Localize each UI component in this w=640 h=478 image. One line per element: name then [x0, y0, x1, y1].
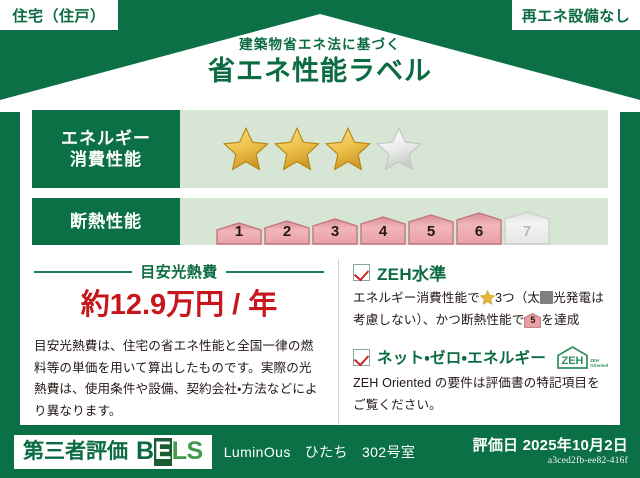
utility-cost-note: 目安光熱費は、住宅の省エネ性能と全国一律の燃料等の単価を用いて算出したものです。… — [34, 336, 324, 423]
property-info: LuminOusひたち302号室 — [224, 442, 416, 462]
title-subtitle: 建築物省エネ法に基づく — [0, 38, 640, 53]
insulation-level-scale: 1234567 — [180, 198, 608, 245]
svg-text:ZEH: ZEH — [562, 355, 584, 367]
star-filled-icon — [273, 126, 321, 172]
energy-performance-row: エネルギー 消費性能 — [32, 110, 608, 188]
insulation-level-badge-3: 3 — [312, 218, 358, 245]
zeh-standard-heading: ZEH水準 — [353, 260, 610, 285]
evaluation-id: a3ced2fb-ee82-416f — [473, 456, 628, 466]
redaction-box — [540, 291, 553, 304]
bels-letter-l: L — [172, 439, 187, 464]
energy-performance-label-line2: 消費性能 — [70, 149, 142, 170]
bels-third-party-text: 第三者評価 — [23, 441, 128, 462]
utility-cost-heading-text: 目安光熱費 — [140, 261, 218, 282]
tag-building-type-label: 住宅（住戸） — [12, 5, 105, 26]
zeh-house-logo-icon: ZEH — [556, 345, 589, 370]
heading-rule-right — [226, 271, 324, 273]
star-filled-icon — [222, 126, 270, 172]
zeh-netzero-block: ネット・ゼロ・エネルギー ZEH ZEH Oriented — [353, 345, 610, 417]
zeh-standard-body: エネルギー消費性能で3つ（太光発電は考慮しない）、かつ断熱性能で5を達成 — [353, 287, 610, 332]
checkbox-checked-icon — [353, 264, 370, 281]
house-badge-icon — [216, 222, 262, 245]
evaluation-date: 評価日 2025年10月2日 — [473, 437, 628, 454]
bels-wordmark: BELS — [136, 438, 203, 466]
zeh-logo-subtext: ZEH Oriented — [590, 358, 608, 370]
insulation-performance-label: 断熱性能 — [32, 198, 180, 245]
insulation-performance-label-text: 断熱性能 — [70, 211, 142, 232]
zeh-netzero-body: ZEH Oriented の要件は評価書の特記項目をご覧ください。 — [353, 372, 610, 417]
utility-cost-heading: 目安光熱費 — [34, 261, 324, 282]
house-badge-icon — [360, 216, 406, 245]
bels-letter-b: B — [136, 439, 154, 464]
label-footer: 第三者評価 BELS LuminOusひたち302号室 評価日 2025年10月… — [0, 425, 640, 478]
house-badge-icon — [312, 218, 358, 245]
property-room: 302号室 — [362, 444, 415, 460]
zeh-logo-subtext-line1: ZEH — [590, 358, 599, 363]
house-badge-icon — [456, 212, 502, 245]
insulation-level-badge-6: 6 — [456, 212, 502, 245]
insulation-performance-row: 断熱性能 1234567 — [32, 198, 608, 245]
zeh-panel: ZEH水準 エネルギー消費性能で3つ（太光発電は考慮しない）、かつ断熱性能で5を… — [339, 257, 620, 432]
evaluation-info: 評価日 2025年10月2日 a3ced2fb-ee82-416f — [473, 437, 628, 465]
insulation-level-badge-5: 5 — [408, 214, 454, 245]
star-filled-icon — [324, 126, 372, 172]
zeh-logo-subtext-line2: Oriented — [590, 363, 608, 368]
utility-cost-amount: 約12.9万円 / 年 — [34, 290, 324, 322]
star-empty-icon — [375, 126, 423, 172]
label-card: エネルギー 消費性能 断熱性能 1234567 目安光熱費 約12.9万円 / … — [20, 100, 620, 425]
zeh-standard-title: ZEH水準 — [377, 260, 447, 285]
house-badge-icon — [504, 211, 550, 245]
tag-renewable-energy-label: 再エネ設備なし — [522, 5, 631, 26]
label-title: 建築物省エネ法に基づく 省エネ性能ラベル — [0, 38, 640, 87]
utility-cost-panel: 目安光熱費 約12.9万円 / 年 目安光熱費は、住宅の省エネ性能と全国一律の燃… — [20, 257, 338, 432]
checkbox-checked-icon — [353, 349, 370, 366]
insulation-level-badge-4: 4 — [360, 216, 406, 245]
label-lower-section: 目安光熱費 約12.9万円 / 年 目安光熱費は、住宅の省エネ性能と全国一律の燃… — [20, 257, 620, 432]
property-name: LuminOus — [224, 444, 291, 460]
bels-logo: 第三者評価 BELS — [14, 435, 212, 469]
energy-star-rating — [180, 110, 608, 188]
title-main: 省エネ性能ラベル — [0, 57, 640, 87]
energy-performance-label-line1: エネルギー — [61, 128, 151, 149]
house-badge-icon — [408, 214, 454, 245]
bels-letter-e: E — [154, 438, 172, 466]
inline-insulation-level-badge: 5 — [524, 313, 541, 328]
property-area: ひたち — [305, 444, 348, 460]
tag-renewable-energy: 再エネ設備なし — [512, 0, 640, 30]
insulation-level-badge-7: 7 — [504, 211, 550, 245]
heading-rule-left — [34, 271, 132, 273]
zeh-oriented-logo: ZEH ZEH Oriented — [556, 345, 608, 370]
zeh-standard-block: ZEH水準 エネルギー消費性能で3つ（太光発電は考慮しない）、かつ断熱性能で5を… — [353, 260, 610, 332]
tag-building-type: 住宅（住戸） — [0, 0, 118, 30]
zeh-standard-body-stars: 3つ（太 — [495, 291, 540, 305]
house-badge-icon — [264, 220, 310, 245]
zeh-standard-body-part1: エネルギー消費性能で — [353, 291, 480, 305]
zeh-standard-body-part3: を達成 — [541, 313, 579, 327]
insulation-level-badge-1: 1 — [216, 222, 262, 245]
energy-label-root: 住宅（住戸） 再エネ設備なし 建築物省エネ法に基づく 省エネ性能ラベル エネルギ… — [0, 0, 640, 478]
insulation-level-badge-2: 2 — [264, 220, 310, 245]
bels-letter-s: S — [187, 439, 203, 464]
inline-badge-level: 5 — [524, 312, 541, 328]
energy-performance-label: エネルギー 消費性能 — [32, 110, 180, 188]
zeh-netzero-heading: ネット・ゼロ・エネルギー ZEH ZEH Oriented — [353, 345, 610, 370]
zeh-netzero-title: ネット・ゼロ・エネルギー — [377, 346, 546, 368]
inline-star-icon — [480, 290, 495, 305]
